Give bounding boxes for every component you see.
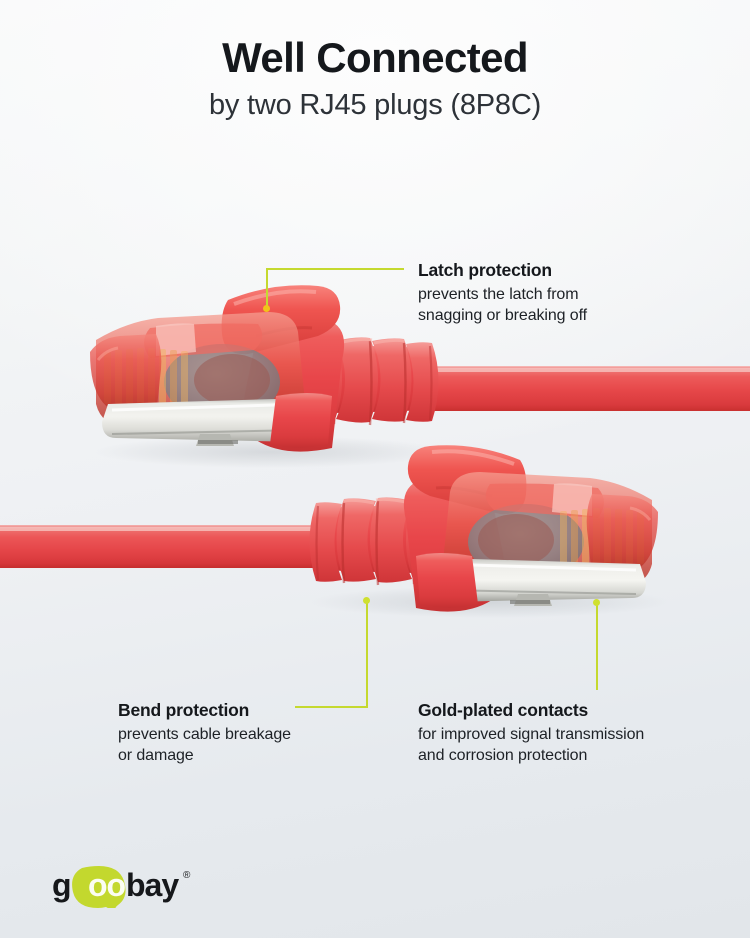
callout-latch-protection: Latch protection prevents the latch from… [418,260,587,326]
callout-bend-line2: or damage [118,745,291,766]
goobay-logo: g oo bay ® [52,862,202,908]
logo-text-g: g [52,867,71,903]
callout-gold-plated-contacts: Gold-plated contacts for improved signal… [418,700,644,766]
logo-text-bay: bay [126,867,179,903]
callout-bend-line1: prevents cable breakage [118,724,291,745]
leader-dot-latch [263,305,270,312]
callout-contacts-line1: for improved signal transmission [418,724,644,745]
product-infographic: Well Connected by two RJ45 plugs (8P8C) [0,0,750,938]
callout-latch-title: Latch protection [418,260,587,282]
rj45-plug-lower [0,445,658,611]
leader-dot-contacts [593,599,600,606]
callout-bend-protection: Bend protection prevents cable breakage … [118,700,291,766]
callout-contacts-line2: and corrosion protection [418,745,644,766]
leader-dot-bend [363,597,370,604]
callout-latch-line2: snagging or breaking off [418,305,587,326]
logo-text-oo: oo [88,867,126,903]
callout-contacts-title: Gold-plated contacts [418,700,644,722]
callout-latch-line1: prevents the latch from [418,284,587,305]
callout-bend-title: Bend protection [118,700,291,722]
logo-trademark: ® [183,870,191,881]
product-illustration [0,0,750,938]
